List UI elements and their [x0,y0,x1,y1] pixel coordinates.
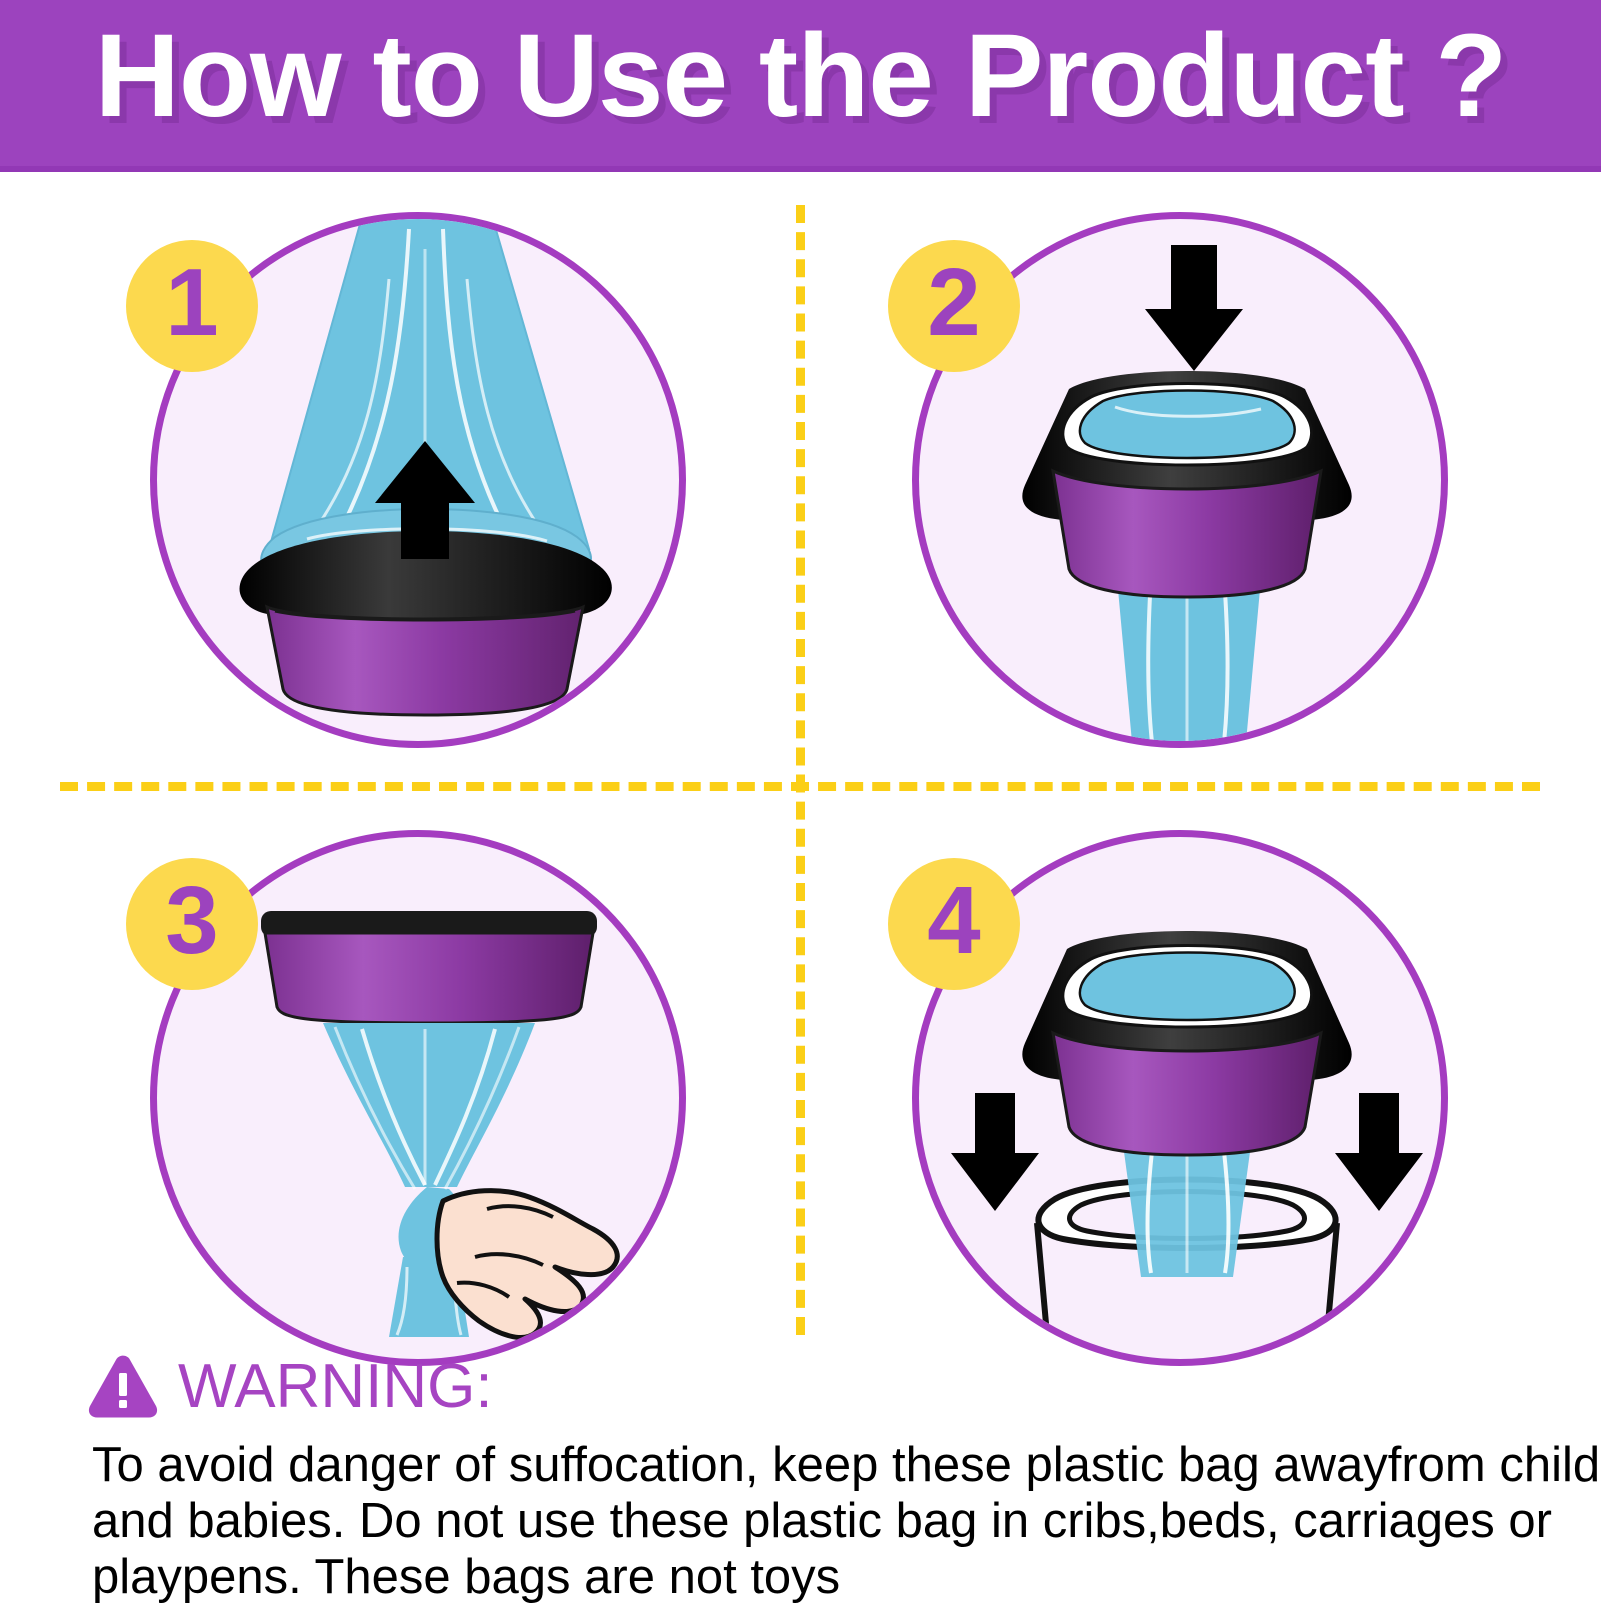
warning-block: WARNING: To avoid danger of suffocation,… [86,1348,1546,1606]
warning-header: WARNING: [86,1348,1546,1426]
step-2: 2 [912,212,1448,748]
bag-inside-bin-icon [1063,384,1312,466]
step-2-badge: 2 [888,240,1020,372]
warning-line-1: To avoid danger of suffocation, keep the… [92,1438,1512,1494]
bin-icon [1022,931,1351,1155]
header-banner: How to Use the Product ? [0,0,1601,172]
step-1-number: 1 [165,255,218,351]
bin-underside-icon [261,911,597,1023]
warning-triangle-icon [86,1354,160,1420]
step-3-number: 3 [165,873,218,969]
step-1: 1 [150,212,686,748]
step-2-number: 2 [927,255,980,351]
down-arrow-icon-left [951,1093,1039,1211]
step-3: 3 [150,830,686,1366]
divider-vertical [796,205,805,1335]
down-arrow-icon-right [1335,1093,1423,1211]
warning-line-3: playpens. These bags are not toys [92,1550,1512,1606]
warning-body: To avoid danger of suffocation, keep the… [92,1438,1512,1606]
down-arrow-icon [1145,245,1243,371]
step-4-number: 4 [927,873,980,969]
step-1-badge: 1 [126,240,258,372]
step-4: 4 [912,830,1448,1366]
bin-icon [1022,371,1351,597]
page-title: How to Use the Product ? [0,8,1601,144]
step-3-badge: 3 [126,858,258,990]
warning-line-2: and babies. Do not use these plastic bag… [92,1494,1512,1550]
warning-label: WARNING: [178,1356,493,1418]
step-4-badge: 4 [888,858,1020,990]
bag-inside-bin-icon [1063,946,1312,1028]
